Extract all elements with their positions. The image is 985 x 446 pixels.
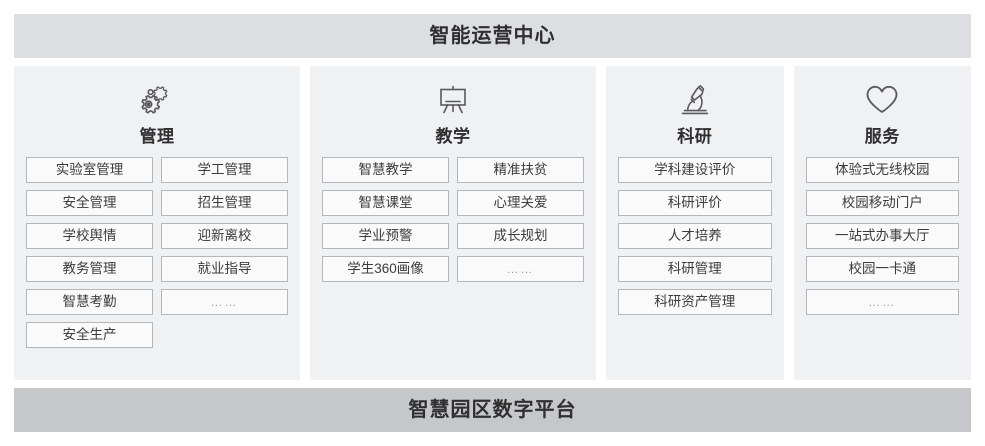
category-panel-management[interactable]: 管理 实验室管理 学工管理 安全管理 招生管理 学校舆情 迎新离校 教务管理 就… bbox=[14, 66, 300, 380]
top-banner-title: 智能运营中心 bbox=[14, 14, 971, 58]
item-box[interactable]: 精准扶贫 bbox=[457, 157, 584, 183]
item-box[interactable]: 科研资产管理 bbox=[618, 289, 772, 315]
item-box[interactable]: 科研评价 bbox=[618, 190, 772, 216]
item-box[interactable]: 安全管理 bbox=[26, 190, 153, 216]
item-box[interactable]: 心理关爱 bbox=[457, 190, 584, 216]
item-box[interactable]: 体验式无线校园 bbox=[806, 157, 960, 183]
item-box[interactable]: 校园移动门户 bbox=[806, 190, 960, 216]
easel-icon bbox=[434, 80, 472, 120]
item-box[interactable]: 校园一卡通 bbox=[806, 256, 960, 282]
category-title-management: 管理 bbox=[140, 122, 175, 147]
gears-icon bbox=[136, 80, 178, 120]
item-box[interactable]: 学生360画像 bbox=[322, 256, 449, 282]
item-box[interactable]: 安全生产 bbox=[26, 322, 153, 348]
item-box[interactable]: 智慧考勤 bbox=[26, 289, 153, 315]
item-list-research: 学科建设评价 科研评价 人才培养 科研管理 科研资产管理 bbox=[618, 157, 772, 315]
item-box[interactable]: 人才培养 bbox=[618, 223, 772, 249]
item-box[interactable]: 学科建设评价 bbox=[618, 157, 772, 183]
bottom-banner-title: 智慧园区数字平台 bbox=[14, 388, 971, 432]
item-box[interactable]: 一站式办事大厅 bbox=[806, 223, 960, 249]
item-box[interactable]: 智慧教学 bbox=[322, 157, 449, 183]
category-panel-research[interactable]: 科研 学科建设评价 科研评价 人才培养 科研管理 科研资产管理 bbox=[606, 66, 784, 380]
item-list-management: 实验室管理 学工管理 安全管理 招生管理 学校舆情 迎新离校 教务管理 就业指导… bbox=[26, 157, 288, 348]
item-box[interactable]: 学业预警 bbox=[322, 223, 449, 249]
item-box[interactable]: 迎新离校 bbox=[161, 223, 288, 249]
item-box[interactable]: 招生管理 bbox=[161, 190, 288, 216]
item-list-service: 体验式无线校园 校园移动门户 一站式办事大厅 校园一卡通 …… bbox=[806, 157, 960, 315]
item-box[interactable]: 智慧课堂 bbox=[322, 190, 449, 216]
item-box[interactable]: 学校舆情 bbox=[26, 223, 153, 249]
item-box[interactable]: 教务管理 bbox=[26, 256, 153, 282]
category-title-teaching: 教学 bbox=[436, 122, 471, 147]
item-box[interactable]: 学工管理 bbox=[161, 157, 288, 183]
item-box-more[interactable]: …… bbox=[806, 289, 960, 315]
item-box-more[interactable]: …… bbox=[457, 256, 584, 282]
category-panel-service[interactable]: 服务 体验式无线校园 校园移动门户 一站式办事大厅 校园一卡通 …… bbox=[794, 66, 972, 380]
item-box[interactable]: 实验室管理 bbox=[26, 157, 153, 183]
microscope-icon bbox=[678, 80, 712, 120]
architecture-diagram: 智能运营中心 管理 实验室管理 学工管理 安全管理 招生管理 学校舆情 迎 bbox=[0, 0, 985, 446]
item-box[interactable]: 成长规划 bbox=[457, 223, 584, 249]
category-title-research: 科研 bbox=[677, 122, 712, 147]
category-panel-teaching[interactable]: 教学 智慧教学 精准扶贫 智慧课堂 心理关爱 学业预警 成长规划 学生360画像… bbox=[310, 66, 596, 380]
item-box[interactable]: 科研管理 bbox=[618, 256, 772, 282]
category-title-service: 服务 bbox=[865, 122, 900, 147]
item-box-more[interactable]: …… bbox=[161, 289, 288, 315]
category-columns: 管理 实验室管理 学工管理 安全管理 招生管理 学校舆情 迎新离校 教务管理 就… bbox=[14, 66, 971, 380]
item-list-teaching: 智慧教学 精准扶贫 智慧课堂 心理关爱 学业预警 成长规划 学生360画像 …… bbox=[322, 157, 584, 282]
item-box[interactable]: 就业指导 bbox=[161, 256, 288, 282]
heart-icon bbox=[862, 80, 902, 120]
